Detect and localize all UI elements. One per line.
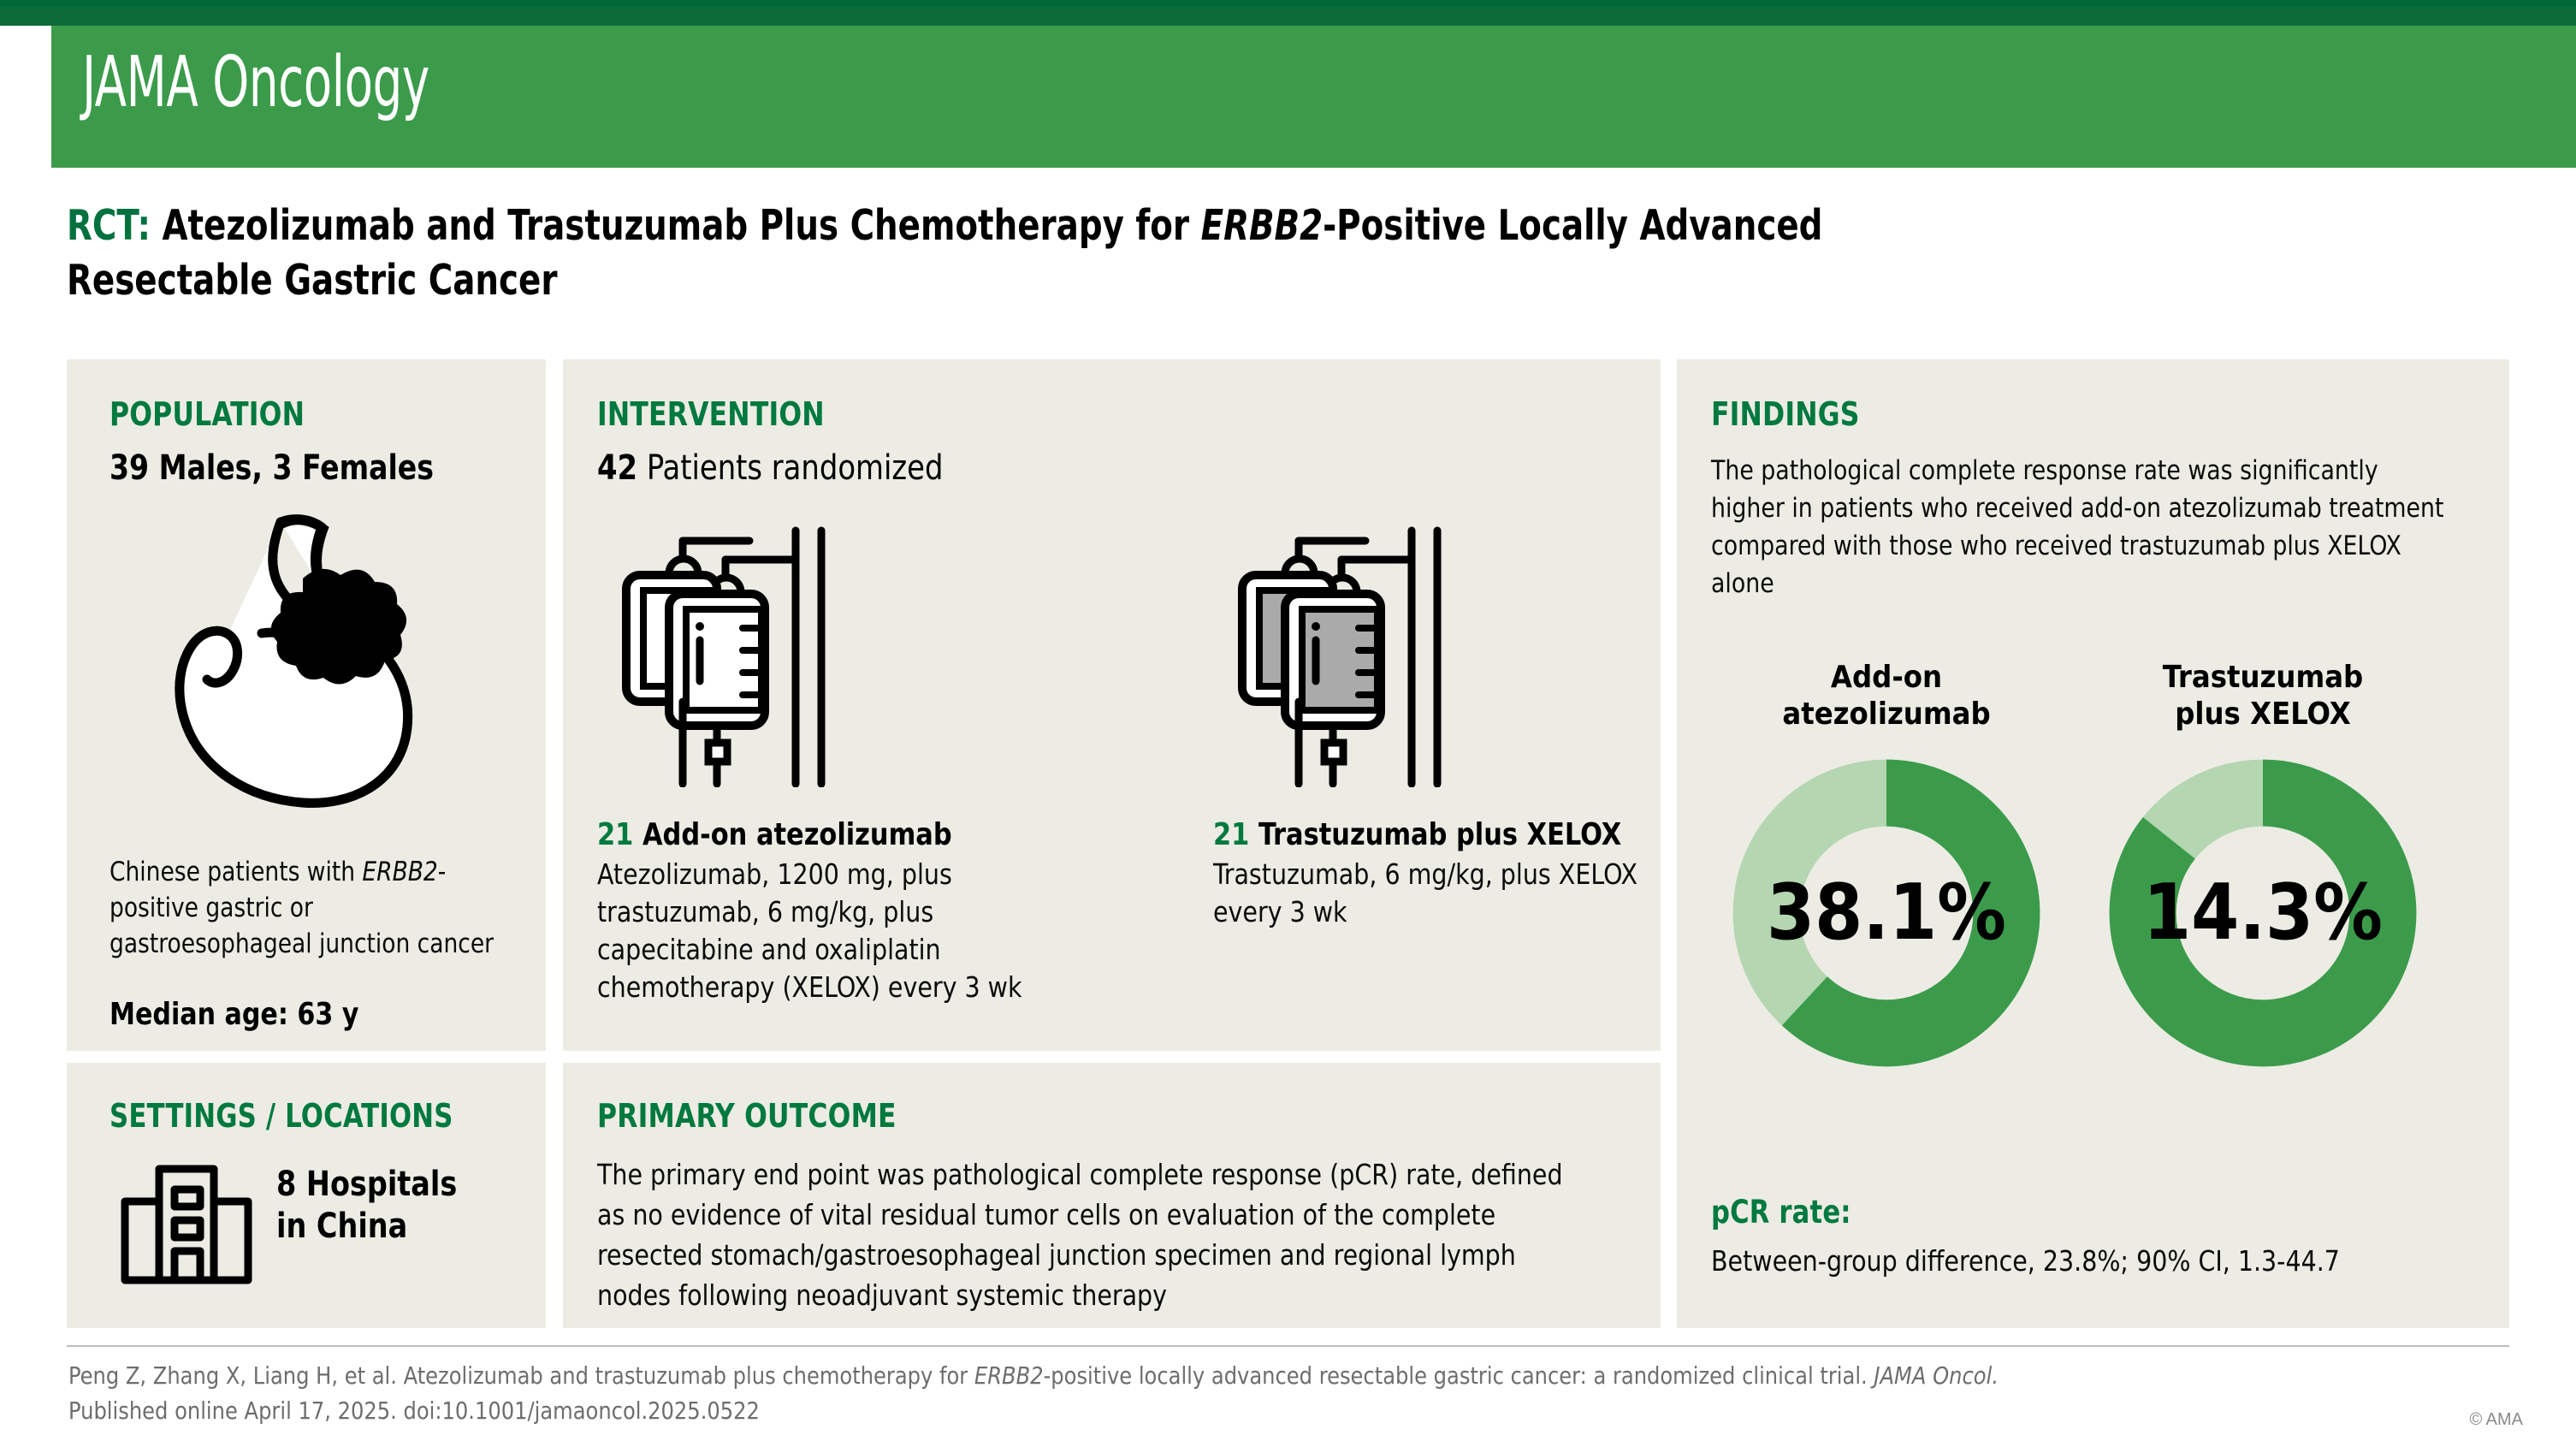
journal-title: JAMA Oncology <box>82 48 429 118</box>
findings-header: FINDINGS <box>1711 395 1860 433</box>
findings-panel: FINDINGS The pathological complete respo… <box>1677 359 2509 1328</box>
settings-locations-panel: SETTINGS / LOCATIONS 8 Hospitalsin China <box>67 1063 546 1328</box>
donut-label: Add-on atezolizumab <box>1703 659 2070 741</box>
arm-description: Trastuzumab, 6 mg/kg, plus XELOX every 3… <box>1213 856 1690 931</box>
population-header: POPULATION <box>110 395 305 433</box>
study-title: RCT: Atezolizumab and Trastuzumab Plus C… <box>67 199 1994 307</box>
copyright-notice: © AMA <box>2469 1410 2523 1430</box>
randomized-count: 42 <box>597 448 637 488</box>
arm-description: Atezolizumab, 1200 mg, plus trastuzumab,… <box>597 856 1074 1006</box>
donut-label-line2: atezolizumab <box>1782 697 1990 732</box>
study-title-part-b: -Positive Locally Advanced <box>1323 201 1822 250</box>
donut-label-line1: Add-on <box>1831 660 1942 695</box>
footer-divider <box>67 1345 2509 1347</box>
pcr-rate-label: pCR rate: <box>1711 1194 1851 1231</box>
pcr-rate-text: Between-group difference, 23.8%; 90% CI,… <box>1711 1242 2450 1281</box>
study-title-line2: Resectable Gastric Cancer <box>67 256 557 305</box>
donut-label-line1: Trastuzumab <box>2163 660 2364 695</box>
citation-b: -positive locally advanced resectable ga… <box>1044 1361 1874 1390</box>
findings-text: The pathological complete response rate … <box>1711 452 2450 602</box>
arm-count: 21 <box>1213 817 1249 852</box>
citation-a: Peng Z, Zhang X, Liang H, et al. Atezoli… <box>68 1361 974 1390</box>
intervention-header: INTERVENTION <box>597 395 825 433</box>
arm-block: 21 Trastuzumab plus XELOX Trastuzumab, 6… <box>1213 817 1709 931</box>
study-type-label: RCT: <box>67 201 151 250</box>
citation-journal-italic: JAMA Oncol. <box>1874 1361 1999 1390</box>
arm-block: 21 Add-on atezolizumab Atezolizumab, 120… <box>597 817 1093 1006</box>
citation-c: Published online April 17, 2025. doi:10.… <box>68 1397 760 1425</box>
gene-name-italic: ERBB2 <box>1201 201 1324 250</box>
primary-outcome-header: PRIMARY OUTCOME <box>597 1097 897 1135</box>
donut-center-value: 38.1% <box>1767 869 2006 958</box>
arm-title: 21 Trastuzumab plus XELOX <box>1213 817 1679 852</box>
median-age: Median age: 63 y <box>110 997 358 1032</box>
arm-count: 21 <box>597 817 633 852</box>
stomach-icon <box>101 505 512 821</box>
pop-desc-a: Chinese patients with <box>110 857 362 887</box>
settings-header: SETTINGS / LOCATIONS <box>110 1097 453 1135</box>
infographic-page: JAMA Oncology RCT: Atezolizumab and Tras… <box>0 0 2576 1453</box>
randomized-count-line: 42 Patients randomized <box>597 448 943 488</box>
settings-line1: 8 Hospitals <box>276 1165 457 1204</box>
journal-masthead: JAMA Oncology <box>51 26 2576 168</box>
iv-pole <box>796 531 821 784</box>
primary-outcome-panel: PRIMARY OUTCOME The primary end point wa… <box>563 1063 1661 1328</box>
donut-chart: 14.3% <box>2096 746 2430 1080</box>
citation: Peng Z, Zhang X, Liang H, et al. Atezoli… <box>68 1359 2081 1428</box>
top-accent-bar <box>0 0 2576 7</box>
arm-name: Add-on atezolizumab <box>633 817 951 852</box>
iv-pole <box>1412 531 1437 784</box>
pop-gene-italic: ERBB2 <box>362 857 437 887</box>
arm-name: Trastuzumab plus XELOX <box>1249 817 1621 852</box>
top-accent-bar-secondary <box>0 7 2576 26</box>
settings-text: 8 Hospitalsin China <box>276 1164 457 1248</box>
intervention-panel: INTERVENTION 42 Patients randomized <box>563 359 1661 1051</box>
primary-outcome-text: The primary end point was pathological c… <box>597 1155 1583 1315</box>
hospital-icon <box>118 1157 255 1285</box>
settings-line2: in China <box>276 1207 407 1246</box>
donut-label-line2: plus XELOX <box>2175 697 2351 732</box>
iv-bag-icon <box>580 522 854 787</box>
donut-label: Trastuzumab plus XELOX <box>2079 659 2447 741</box>
population-description: Chinese patients with ERBB2-positive gas… <box>110 854 500 962</box>
donut-chart: 38.1% <box>1720 746 2053 1080</box>
population-panel: POPULATION 39 Males, 3 Females Chinese p… <box>67 359 546 1051</box>
study-title-part-a: Atezolizumab and Trastuzumab Plus Chemot… <box>151 201 1201 250</box>
citation-gene-italic: ERBB2 <box>974 1361 1044 1390</box>
donut-center-value: 14.3% <box>2143 869 2383 958</box>
population-subtitle: 39 Males, 3 Females <box>110 448 434 488</box>
randomized-label: Patients randomized <box>637 448 943 488</box>
donut-chart-block: Trastuzumab plus XELOX 14.3% <box>2079 659 2447 1080</box>
iv-bag-icon-gray <box>1196 522 1470 787</box>
donut-chart-block: Add-on atezolizumab 38.1% <box>1703 659 2070 1080</box>
arm-title: 21 Add-on atezolizumab <box>597 817 1063 852</box>
